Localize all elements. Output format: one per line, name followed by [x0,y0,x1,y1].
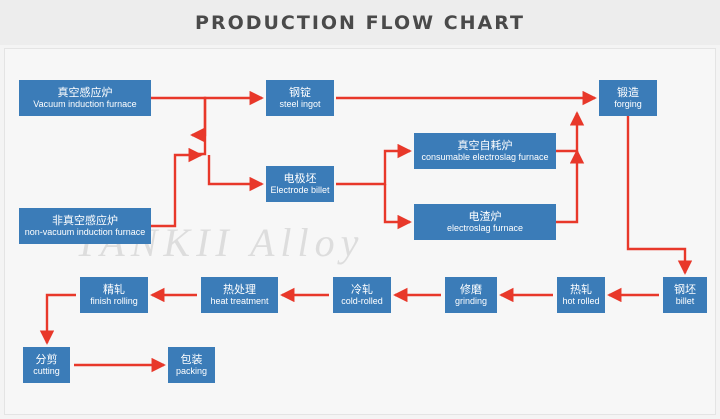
node-label-en: billet [676,296,695,306]
flowchart-page: PRODUCTION FLOW CHART TANKII Alloy [0,0,720,419]
node-non-vacuum-induction-furnace[interactable]: 非真空感应炉 non-vacuum induction furnace [19,208,151,244]
node-grinding[interactable]: 修磨 grinding [445,277,497,313]
node-label-cn: 锻造 [617,87,639,100]
node-label-cn: 修磨 [460,284,482,297]
node-label-cn: 钢坯 [674,284,696,297]
node-label-cn: 热轧 [570,284,592,297]
node-vacuum-induction-furnace[interactable]: 真空感应炉 Vacuum induction furnace [19,80,151,116]
node-label-en: steel ingot [279,99,320,109]
node-consumable-electroslag-furnace[interactable]: 真空自耗炉 consumable electroslag furnace [414,133,556,169]
node-label-en: packing [176,366,207,376]
node-electroslag-furnace[interactable]: 电渣炉 electroslag furnace [414,204,556,240]
node-label-cn: 真空自耗炉 [458,140,513,153]
node-label-en: finish rolling [90,296,138,306]
node-label-en: cutting [33,366,60,376]
node-label-en: Vacuum induction furnace [33,99,136,109]
node-label-en: forging [614,99,642,109]
node-electrode-billet[interactable]: 电极坯 Electrode billet [266,166,334,202]
node-label-en: hot rolled [562,296,599,306]
page-title: PRODUCTION FLOW CHART [0,0,720,45]
node-label-en: electroslag furnace [447,223,523,233]
node-finish-rolling[interactable]: 精轧 finish rolling [80,277,148,313]
node-label-en: Electrode billet [270,185,329,195]
flowchart-canvas: TANKII Alloy [4,48,716,415]
node-label-cn: 热处理 [223,284,256,297]
node-label-cn: 分剪 [36,354,58,367]
node-label-cn: 电极坯 [284,173,317,186]
node-cold-rolled[interactable]: 冷轧 cold-rolled [333,277,391,313]
node-label-en: non-vacuum induction furnace [25,227,146,237]
node-heat-treatment[interactable]: 热处理 heat treatment [201,277,278,313]
node-label-cn: 电渣炉 [469,211,502,224]
node-hot-rolled[interactable]: 热轧 hot rolled [557,277,605,313]
node-label-cn: 真空感应炉 [58,87,113,100]
node-label-cn: 冷轧 [351,284,373,297]
node-label-en: grinding [455,296,487,306]
node-label-en: cold-rolled [341,296,383,306]
node-label-cn: 包装 [181,354,203,367]
node-forging[interactable]: 锻造 forging [599,80,657,116]
node-packing[interactable]: 包装 packing [168,347,215,383]
node-billet[interactable]: 钢坯 billet [663,277,707,313]
node-label-cn: 非真空感应炉 [52,215,118,228]
node-cutting[interactable]: 分剪 cutting [23,347,70,383]
node-label-en: heat treatment [210,296,268,306]
header-bar: PRODUCTION FLOW CHART [0,0,720,45]
node-label-cn: 精轧 [103,284,125,297]
node-label-cn: 钢锭 [289,87,311,100]
node-label-en: consumable electroslag furnace [421,152,548,162]
node-steel-ingot[interactable]: 钢锭 steel ingot [266,80,334,116]
